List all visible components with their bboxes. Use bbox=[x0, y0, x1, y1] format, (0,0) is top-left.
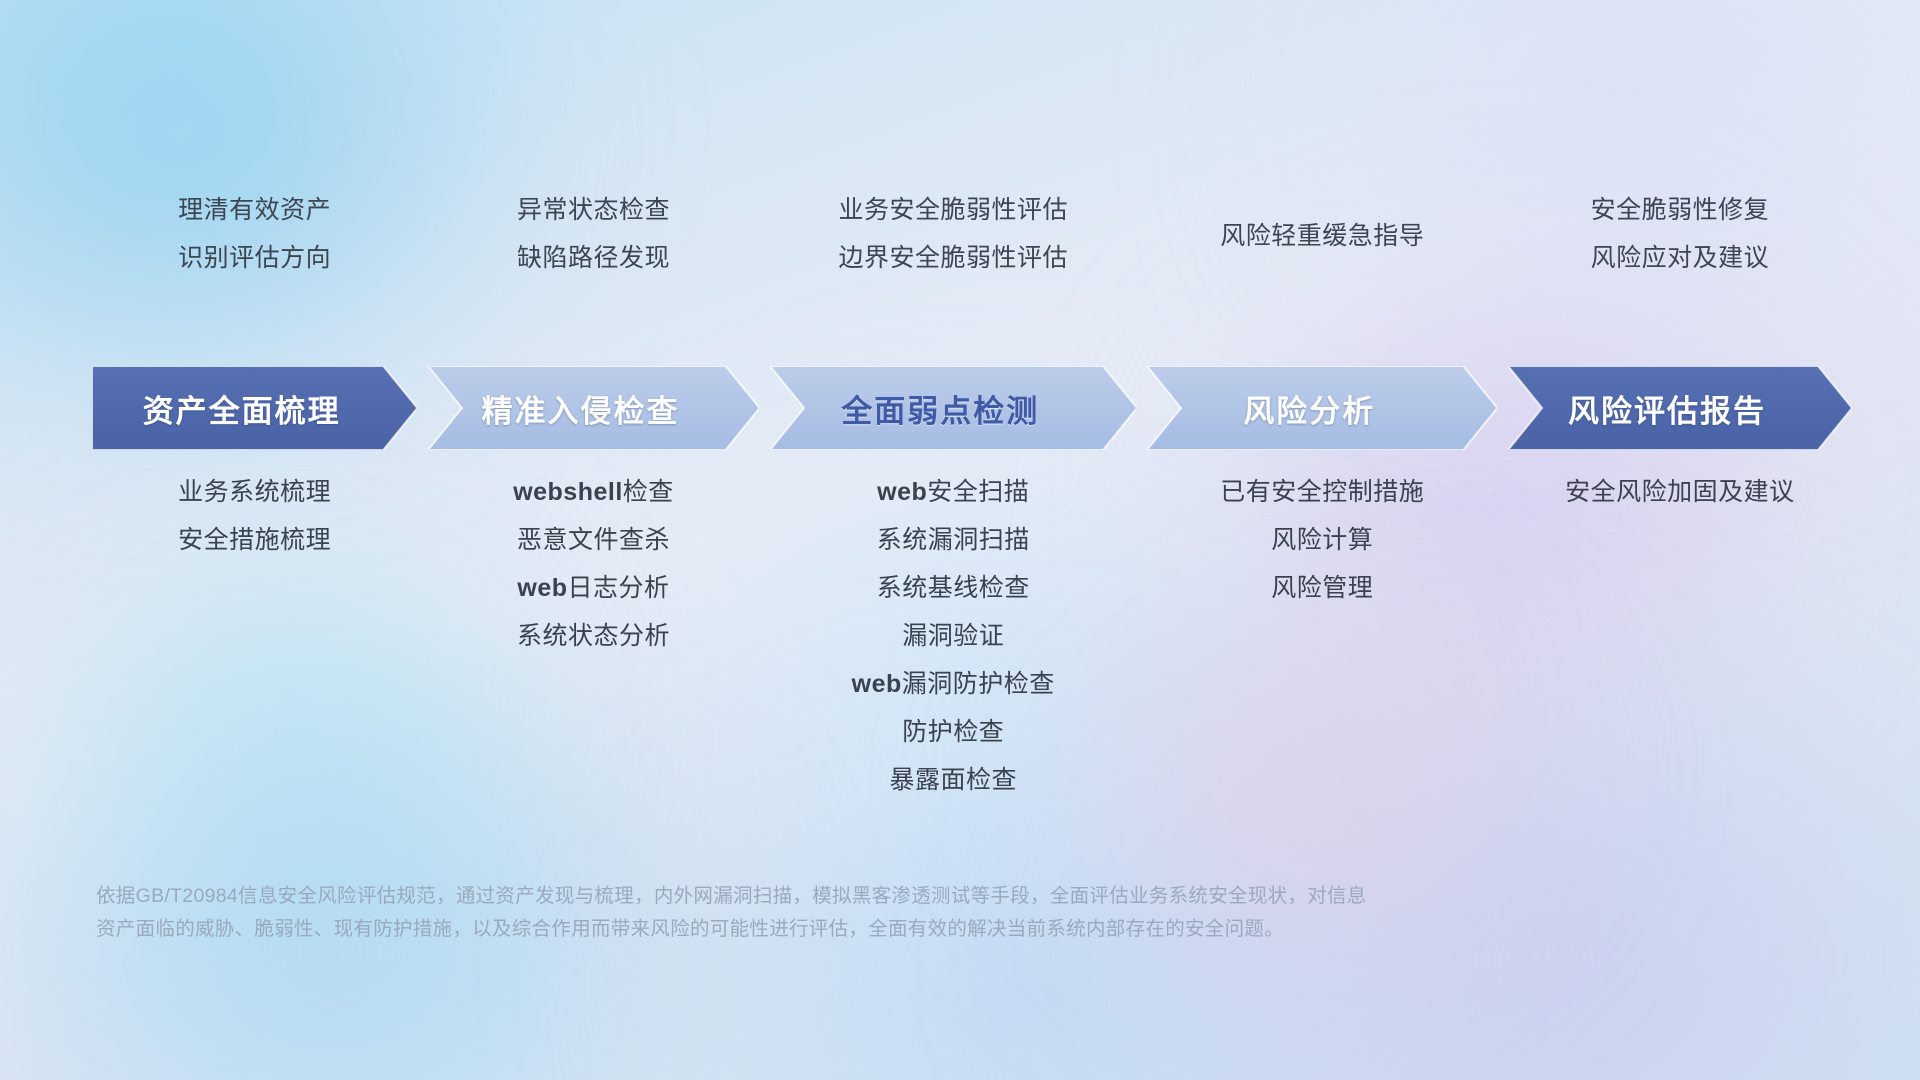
process-chevron-5[interactable]: 风险评估报告 bbox=[1508, 366, 1852, 450]
stage-top-label: 风险轻重缓急指导 bbox=[1220, 212, 1424, 260]
stage-top-labels-2: 异常状态检查缺陷路径发现 bbox=[428, 186, 760, 296]
chevron-label-3: 全面弱点检测 bbox=[770, 386, 1137, 431]
stage-detail-item: 业务系统梳理 bbox=[178, 468, 331, 516]
process-chevron-4[interactable]: 风险分析 bbox=[1147, 366, 1497, 450]
stage-detail-item: 暴露面检查 bbox=[889, 756, 1017, 804]
footer-line-2: 资产面临的威胁、脆弱性、现有防护措施，以及综合作用而带来风险的可能性进行评估，全… bbox=[96, 913, 1596, 946]
stage-detail-item: 安全措施梳理 bbox=[178, 516, 331, 564]
process-chevron-2[interactable]: 精准入侵检查 bbox=[428, 366, 760, 450]
stage-detail-item: 防护检查 bbox=[902, 708, 1004, 756]
stage-detail-list-4: 已有安全控制措施风险计算风险管理 bbox=[1147, 468, 1497, 828]
stage-top-label: 识别评估方向 bbox=[178, 234, 331, 282]
stage-top-labels-row: 理清有效资产识别评估方向异常状态检查缺陷路径发现业务安全脆弱性评估边界安全脆弱性… bbox=[92, 186, 1852, 296]
stage-top-label: 边界安全脆弱性评估 bbox=[838, 234, 1068, 282]
stage-detail-item: 系统状态分析 bbox=[517, 612, 670, 660]
stage-detail-item: 系统基线检查 bbox=[877, 564, 1030, 612]
stage-detail-list-5: 安全风险加固及建议 bbox=[1508, 468, 1852, 828]
stage-detail-item: 安全风险加固及建议 bbox=[1565, 468, 1795, 516]
process-chevron-3[interactable]: 全面弱点检测 bbox=[770, 366, 1137, 450]
stage-top-labels-5: 安全脆弱性修复风险应对及建议 bbox=[1508, 186, 1852, 296]
stage-top-label: 安全脆弱性修复 bbox=[1591, 186, 1770, 234]
stage-detail-item: web日志分析 bbox=[517, 564, 669, 612]
stage-top-label: 理清有效资产 bbox=[178, 186, 331, 234]
stage-detail-item: 漏洞验证 bbox=[902, 612, 1004, 660]
stage-detail-item: 恶意文件查杀 bbox=[517, 516, 670, 564]
stage-top-label: 业务安全脆弱性评估 bbox=[838, 186, 1068, 234]
stage-top-labels-4: 风险轻重缓急指导 bbox=[1147, 186, 1497, 296]
footer-description: 依据GB/T20984信息安全风险评估规范，通过资产发现与梳理，内外网漏洞扫描，… bbox=[96, 880, 1596, 946]
stage-detail-item: 系统漏洞扫描 bbox=[877, 516, 1030, 564]
chevron-label-1: 资产全面梳理 bbox=[92, 386, 417, 431]
stage-detail-item: webshell检查 bbox=[513, 468, 674, 516]
stage-detail-list-3: web安全扫描系统漏洞扫描系统基线检查漏洞验证web漏洞防护检查防护检查暴露面检… bbox=[770, 468, 1137, 828]
stage-detail-item: web漏洞防护检查 bbox=[852, 660, 1055, 708]
process-chevron-band: 资产全面梳理 精准入侵检查 全面弱点检测 风险分析 bbox=[92, 366, 1852, 450]
stage-detail-list-2: webshell检查恶意文件查杀web日志分析系统状态分析 bbox=[428, 468, 760, 828]
process-chevron-1[interactable]: 资产全面梳理 bbox=[92, 366, 417, 450]
chevron-label-4: 风险分析 bbox=[1147, 386, 1497, 431]
slide-content: 理清有效资产识别评估方向异常状态检查缺陷路径发现业务安全脆弱性评估边界安全脆弱性… bbox=[0, 0, 1920, 1080]
stage-detail-item: 风险管理 bbox=[1271, 564, 1373, 612]
stage-top-labels-1: 理清有效资产识别评估方向 bbox=[92, 186, 417, 296]
stage-detail-lists-row: 业务系统梳理安全措施梳理webshell检查恶意文件查杀web日志分析系统状态分… bbox=[92, 468, 1852, 828]
stage-detail-item: 已有安全控制措施 bbox=[1220, 468, 1424, 516]
chevron-label-5: 风险评估报告 bbox=[1508, 386, 1852, 431]
stage-detail-item: web安全扫描 bbox=[877, 468, 1029, 516]
stage-top-label: 异常状态检查 bbox=[517, 186, 670, 234]
stage-top-label: 缺陷路径发现 bbox=[517, 234, 670, 282]
footer-line-1: 依据GB/T20984信息安全风险评估规范，通过资产发现与梳理，内外网漏洞扫描，… bbox=[96, 880, 1596, 913]
stage-detail-item: 风险计算 bbox=[1271, 516, 1373, 564]
stage-detail-list-1: 业务系统梳理安全措施梳理 bbox=[92, 468, 417, 828]
stage-top-labels-3: 业务安全脆弱性评估边界安全脆弱性评估 bbox=[770, 186, 1137, 296]
chevron-label-2: 精准入侵检查 bbox=[428, 386, 760, 431]
stage-top-label: 风险应对及建议 bbox=[1591, 234, 1770, 282]
